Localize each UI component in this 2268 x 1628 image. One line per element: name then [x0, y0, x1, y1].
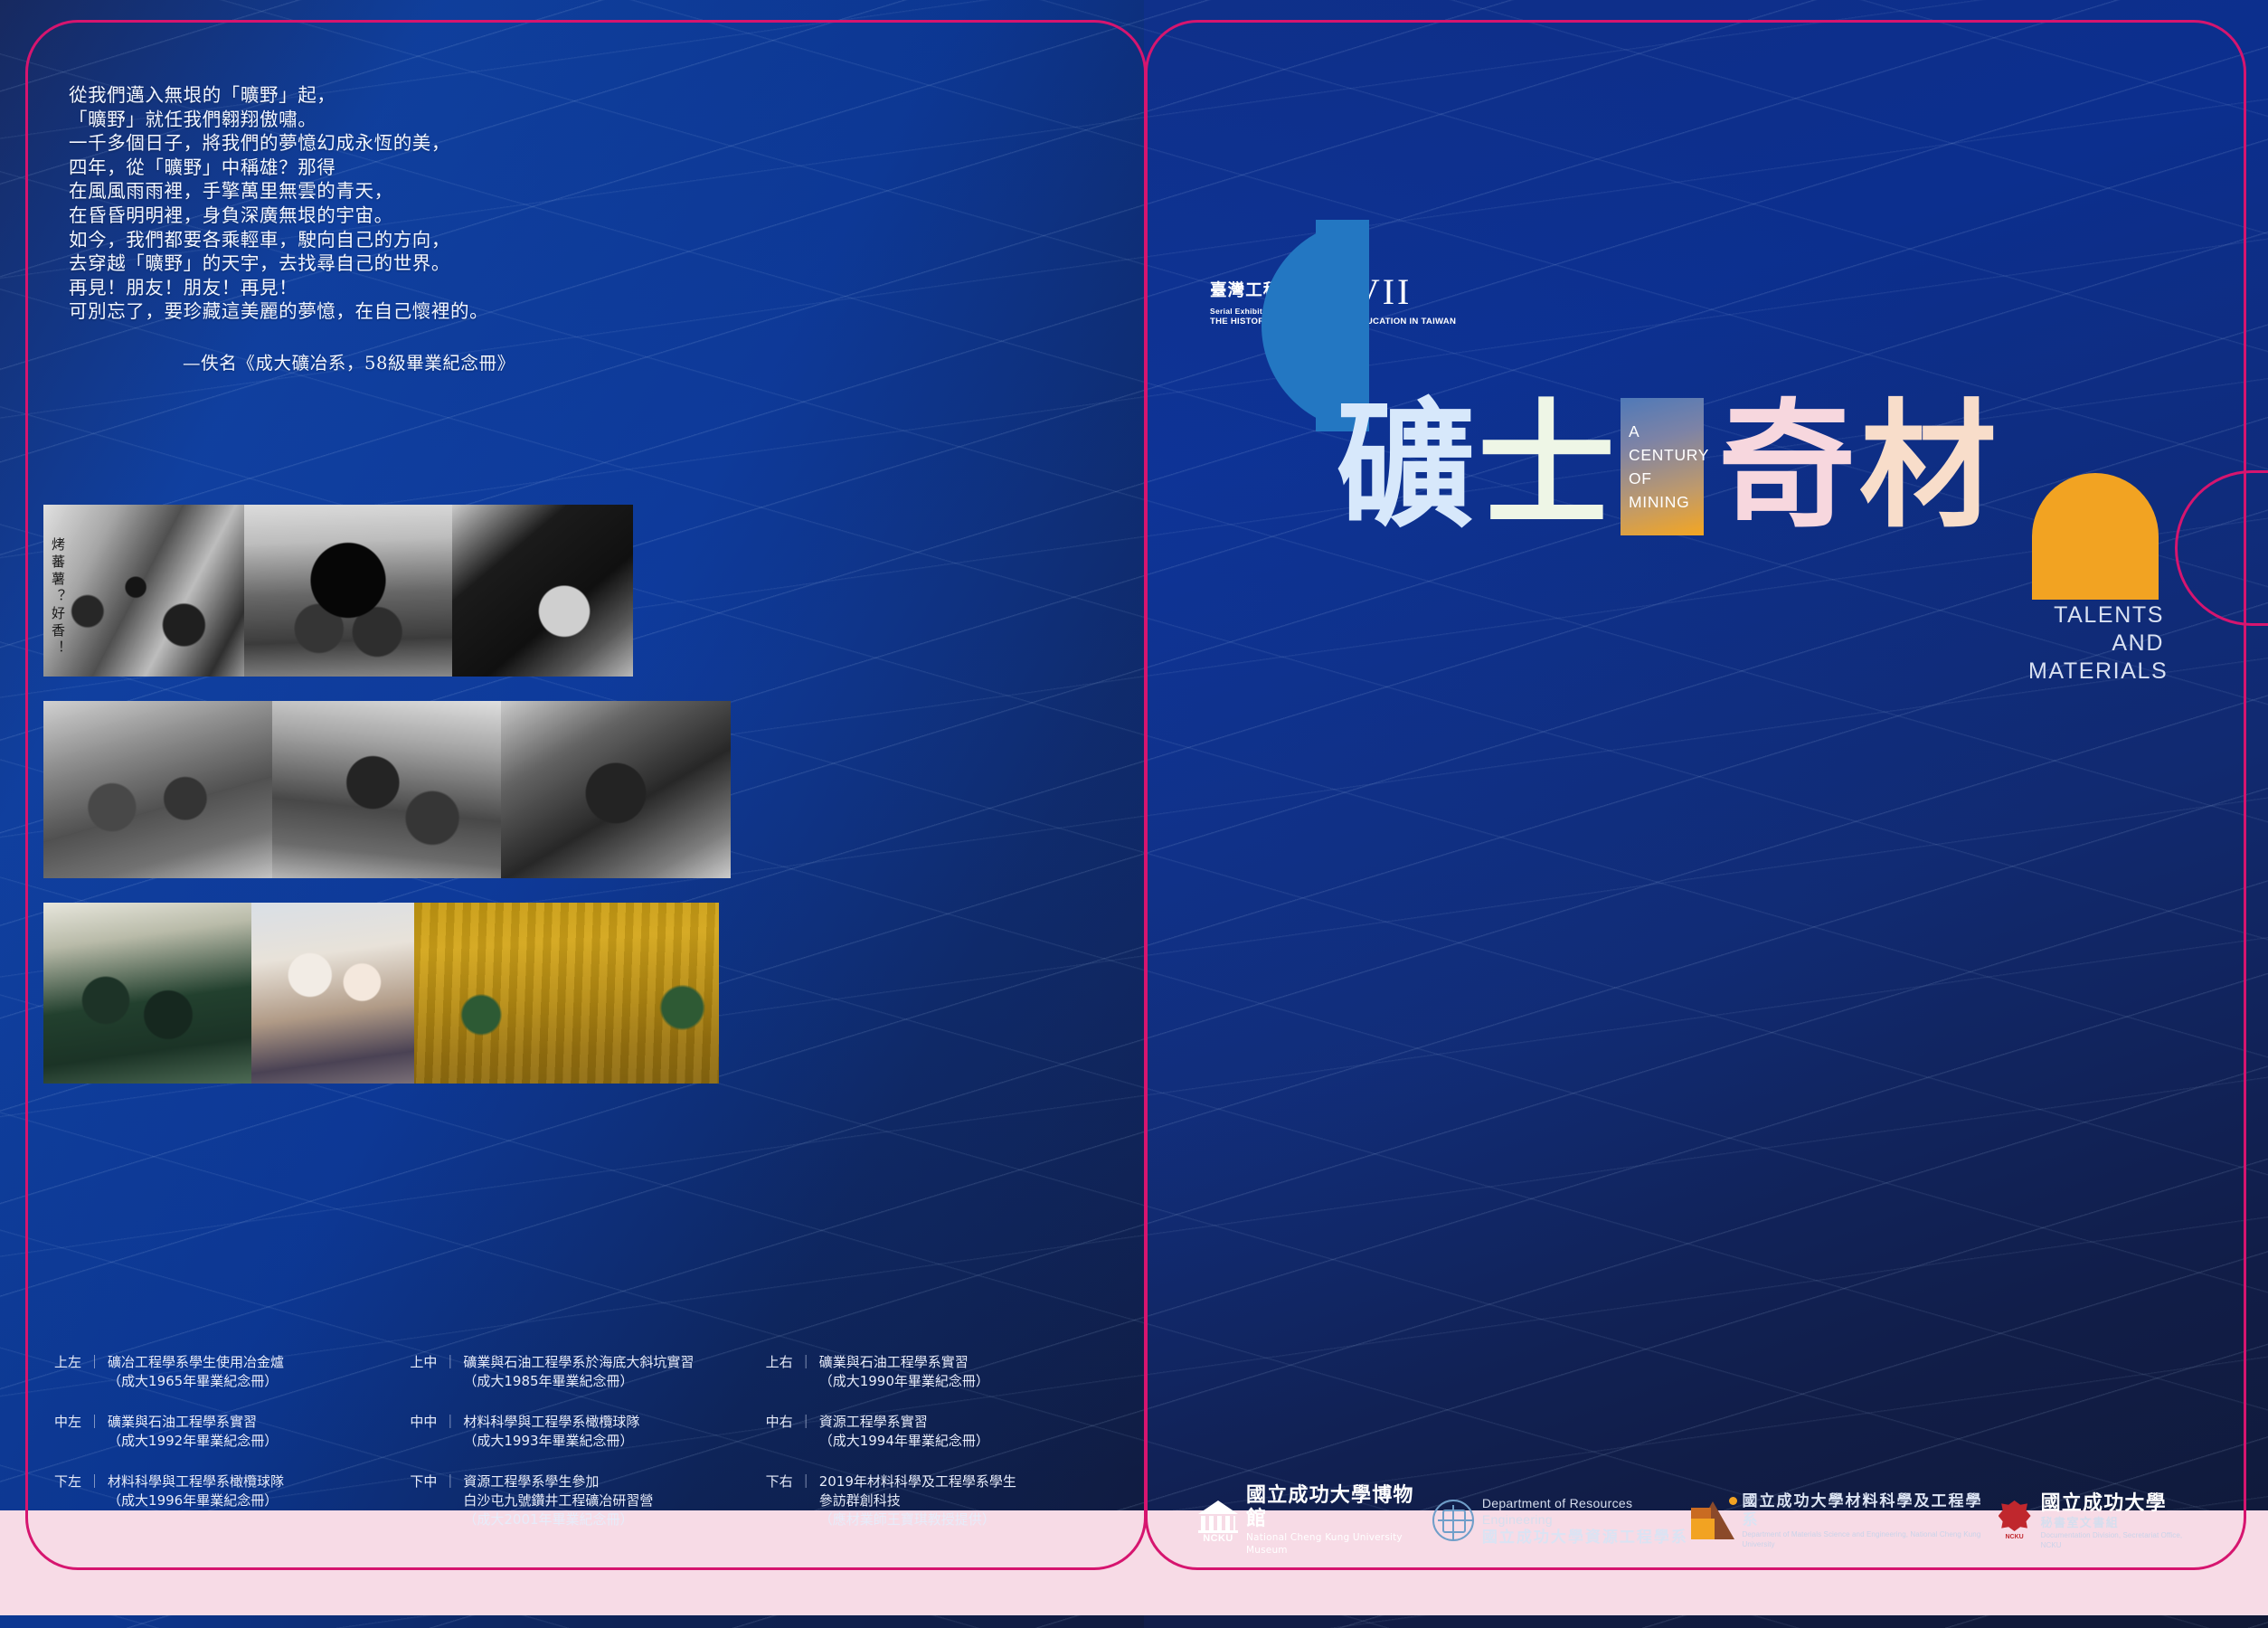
logo-resources-engineering: Department of Resources Engineering 國立成功… — [1432, 1495, 1691, 1547]
main-title: 礦 士 A CENTURY OF MINING 奇 材 — [1337, 398, 1997, 535]
logo-en: Department of Resources Engineering — [1482, 1495, 1691, 1528]
caption-item: 中左 ｜ 礦業與石油工程學系實習 （成大1992年畢業紀念冊） — [54, 1413, 410, 1451]
caption-text: 資源工程學系實習 （成大1994年畢業紀念冊） — [819, 1413, 989, 1451]
poem-line: 四年，從「曠野」中稱雄？那得 — [69, 156, 647, 180]
caption-line: 材料科學與工程學系橄欖球隊 — [463, 1413, 639, 1432]
photo-top-center — [244, 505, 452, 677]
poster-root: 從我們邁入無垠的「曠野」起， 「曠野」就任我們翱翔傲嘯。 一千多個日子，將我們的… — [0, 0, 2268, 1628]
photo-inner-caption: 烤蕃薯？好香！ — [49, 537, 68, 658]
caption-line: （成大1993年畢業紀念冊） — [463, 1432, 639, 1451]
caption-separator: ｜ — [443, 1413, 457, 1451]
caption-line: （應材業師王寶琪教授提供） — [819, 1510, 1016, 1529]
photo-grid: 烤蕃薯？好香！ — [43, 505, 1121, 1108]
caption-line: 礦業與石油工程學系實習 — [108, 1413, 278, 1432]
photo-top-left: 烤蕃薯？好香！ — [43, 505, 244, 677]
logo-ncku-museum-text: 國立成功大學博物館 National Cheng Kung University… — [1246, 1484, 1432, 1557]
caption-text: 材料科學與工程學系橄欖球隊 （成大1996年畢業紀念冊） — [108, 1472, 284, 1510]
caption-text: 資源工程學系學生參加 白沙屯九號鑽井工程礦冶研習營 （成大2001年畢業紀念冊） — [463, 1472, 653, 1529]
photo-bottom-right — [414, 903, 719, 1084]
poem-block: 從我們邁入無垠的「曠野」起， 「曠野」就任我們翱翔傲嘯。 一千多個日子，將我們的… — [69, 83, 647, 376]
caption-text: 2019年材料科學及工程學系學生 參訪群創科技 （應材業師王寶琪教授提供） — [819, 1472, 1016, 1529]
photo-bottom-left — [43, 903, 251, 1084]
caption-line: （成大2001年畢業紀念冊） — [463, 1510, 653, 1529]
caption-line: （成大1992年畢業紀念冊） — [108, 1432, 278, 1451]
caption-position: 下中 — [410, 1472, 437, 1529]
logo-ncku-museum: NCKU 國立成功大學博物館 National Cheng Kung Unive… — [1198, 1484, 1432, 1557]
caption-line: （成大1985年畢業紀念冊） — [463, 1372, 694, 1391]
logo-materials-text: 國立成功大學材料科學及工程學系 Department of Materials … — [1743, 1491, 1997, 1549]
poem-line: 在昏昏明明裡，身負深廣無垠的宇宙。 — [69, 203, 647, 228]
caption-separator: ｜ — [799, 1353, 813, 1391]
poem-line: 如今，我們都要各乘輕車，駛向自己的方向， — [69, 228, 647, 252]
caption-position: 下左 — [54, 1472, 81, 1510]
caption-list: 上左 ｜ 礦冶工程學系學生使用冶金爐 （成大1965年畢業紀念冊） 中左 ｜ 礦… — [54, 1353, 1121, 1551]
poem-line: 在風風雨雨裡，手擎萬里無雲的青天， — [69, 179, 647, 203]
museum-mark-text: NCKU — [1198, 1533, 1238, 1544]
caption-column-center: 上中 ｜ 礦業與石油工程學系於海底大斜坑實習 （成大1985年畢業紀念冊） 中中… — [410, 1353, 765, 1551]
logo-en: National Cheng Kung University Museum — [1246, 1531, 1432, 1557]
seal-label: NCKU — [1997, 1534, 2033, 1540]
caption-item: 下中 ｜ 資源工程學系學生參加 白沙屯九號鑽井工程礦冶研習營 （成大2001年畢… — [410, 1472, 765, 1529]
logo-zh-sub: 秘書室文書組 — [2041, 1515, 2193, 1530]
caption-position: 上右 — [766, 1353, 793, 1391]
century-line: CENTURY — [1629, 443, 1704, 467]
century-line: OF — [1629, 467, 1704, 490]
caption-separator: ｜ — [799, 1413, 813, 1451]
photo-row-middle — [43, 701, 1121, 878]
logo-en: Documentation Division, Secretariat Offi… — [2041, 1530, 2193, 1550]
caption-line: 礦業與石油工程學系實習 — [819, 1353, 989, 1372]
caption-line: 白沙屯九號鑽井工程礦冶研習營 — [463, 1491, 653, 1510]
caption-item: 下左 ｜ 材料科學與工程學系橄欖球隊 （成大1996年畢業紀念冊） — [54, 1472, 410, 1510]
photo-row-bottom — [43, 903, 1121, 1084]
photo-middle-center — [272, 701, 501, 878]
logo-zh: 國立成功大學資源工程學系 — [1482, 1528, 1691, 1547]
caption-line: 材料科學與工程學系橄欖球隊 — [108, 1472, 284, 1491]
caption-position: 下右 — [766, 1472, 793, 1529]
caption-item: 上左 ｜ 礦冶工程學系學生使用冶金爐 （成大1965年畢業紀念冊） — [54, 1353, 410, 1391]
mountain-icon — [1691, 1501, 1734, 1539]
poem-line: 「曠野」就任我們翱翔傲嘯。 — [69, 108, 647, 132]
century-of-mining-badge: A CENTURY OF MINING — [1621, 398, 1704, 535]
ncku-seal-icon: NCKU — [1997, 1500, 2033, 1540]
caption-position: 中右 — [766, 1413, 793, 1451]
photo-middle-right — [501, 701, 731, 878]
caption-line: 參訪群創科技 — [819, 1491, 1016, 1510]
caption-position: 上中 — [410, 1353, 437, 1391]
caption-line: 資源工程學系學生參加 — [463, 1472, 653, 1491]
caption-line: 礦冶工程學系學生使用冶金爐 — [108, 1353, 284, 1372]
title-char-qi: 奇 — [1718, 398, 1856, 535]
caption-separator: ｜ — [88, 1472, 101, 1510]
caption-line: 礦業與石油工程學系於海底大斜坑實習 — [463, 1353, 694, 1372]
caption-text: 礦冶工程學系學生使用冶金爐 （成大1965年畢業紀念冊） — [108, 1353, 284, 1391]
title-char-shi: 士 — [1478, 398, 1615, 535]
caption-text: 礦業與石油工程學系於海底大斜坑實習 （成大1985年畢業紀念冊） — [463, 1353, 694, 1391]
orange-arc-shape — [2032, 473, 2159, 600]
caption-line: 2019年材料科學及工程學系學生 — [819, 1472, 1016, 1491]
logo-row: NCKU 國立成功大學博物館 National Cheng Kung Unive… — [1198, 1481, 2193, 1559]
caption-text: 礦業與石油工程學系實習 （成大1992年畢業紀念冊） — [108, 1413, 278, 1451]
poem-line: 一千多個日子，將我們的夢憶幻成永恆的美， — [69, 131, 647, 156]
poem-line: 去穿越「曠野」的天宇，去找尋自己的世界。 — [69, 251, 647, 276]
subtitle-line: MATERIALS — [2028, 658, 2164, 686]
caption-line: （成大1990年畢業紀念冊） — [819, 1372, 989, 1391]
resources-emblem-icon — [1432, 1500, 1474, 1541]
caption-line: 資源工程學系實習 — [819, 1413, 989, 1432]
logo-zh-main: 國立成功大學 — [2041, 1491, 2193, 1515]
caption-line: （成大1996年畢業紀念冊） — [108, 1491, 284, 1510]
caption-item: 下右 ｜ 2019年材料科學及工程學系學生 參訪群創科技 （應材業師王寶琪教授提… — [766, 1472, 1121, 1529]
caption-position: 中左 — [54, 1413, 81, 1451]
caption-separator: ｜ — [443, 1353, 457, 1391]
logo-documentation-division: NCKU 國立成功大學 秘書室文書組 Documentation Divisio… — [1997, 1491, 2193, 1550]
museum-house-icon: NCKU — [1198, 1500, 1238, 1540]
poem-line: 從我們邁入無垠的「曠野」起， — [69, 83, 647, 108]
caption-separator: ｜ — [88, 1413, 101, 1451]
caption-separator: ｜ — [88, 1353, 101, 1391]
subtitle-line: AND — [2028, 629, 2164, 658]
logo-materials-science: 國立成功大學材料科學及工程學系 Department of Materials … — [1691, 1491, 1997, 1549]
caption-line: （成大1994年畢業紀念冊） — [819, 1432, 989, 1451]
logo-documentation-text: 國立成功大學 秘書室文書組 Documentation Division, Se… — [2041, 1491, 2193, 1550]
caption-column-left: 上左 ｜ 礦冶工程學系學生使用冶金爐 （成大1965年畢業紀念冊） 中左 ｜ 礦… — [54, 1353, 410, 1551]
title-char-kuang: 礦 — [1337, 398, 1474, 535]
caption-separator: ｜ — [443, 1472, 457, 1529]
photo-bottom-center — [251, 903, 414, 1084]
photo-row-top: 烤蕃薯？好香！ — [43, 505, 1121, 677]
caption-text: 材料科學與工程學系橄欖球隊 （成大1993年畢業紀念冊） — [463, 1413, 639, 1451]
caption-item: 上中 ｜ 礦業與石油工程學系於海底大斜坑實習 （成大1985年畢業紀念冊） — [410, 1353, 765, 1391]
caption-text: 礦業與石油工程學系實習 （成大1990年畢業紀念冊） — [819, 1353, 989, 1391]
logo-zh: 國立成功大學博物館 — [1246, 1484, 1432, 1531]
title-char-cai: 材 — [1859, 398, 1997, 535]
logo-en: Department of Materials Science and Engi… — [1743, 1529, 1997, 1549]
caption-position: 上左 — [54, 1353, 81, 1391]
caption-item: 中右 ｜ 資源工程學系實習 （成大1994年畢業紀念冊） — [766, 1413, 1121, 1451]
poem-line: 可別忘了，要珍藏這美麗的夢憶，在自己懷裡的。 — [69, 299, 647, 324]
subtitle-english: TALENTS AND MATERIALS — [2028, 601, 2164, 686]
century-line: MINING — [1629, 490, 1704, 514]
photo-middle-left — [43, 701, 272, 878]
caption-position: 中中 — [410, 1413, 437, 1451]
caption-column-right: 上右 ｜ 礦業與石油工程學系實習 （成大1990年畢業紀念冊） 中右 ｜ 資源工… — [766, 1353, 1121, 1551]
logo-zh: 國立成功大學材料科學及工程學系 — [1743, 1491, 1997, 1529]
poem-line: 再見！朋友！朋友！再見！ — [69, 276, 647, 300]
photo-top-right — [452, 505, 633, 677]
caption-item: 上右 ｜ 礦業與石油工程學系實習 （成大1990年畢業紀念冊） — [766, 1353, 1121, 1391]
caption-line: （成大1965年畢業紀念冊） — [108, 1372, 284, 1391]
subtitle-line: TALENTS — [2028, 601, 2164, 629]
caption-separator: ｜ — [799, 1472, 813, 1529]
century-line: A — [1629, 420, 1704, 443]
caption-item: 中中 ｜ 材料科學與工程學系橄欖球隊 （成大1993年畢業紀念冊） — [410, 1413, 765, 1451]
poem-attribution: —佚名《成大礦冶系，58級畢業紀念冊》 — [69, 352, 647, 376]
logo-resources-text: Department of Resources Engineering 國立成功… — [1482, 1495, 1691, 1547]
